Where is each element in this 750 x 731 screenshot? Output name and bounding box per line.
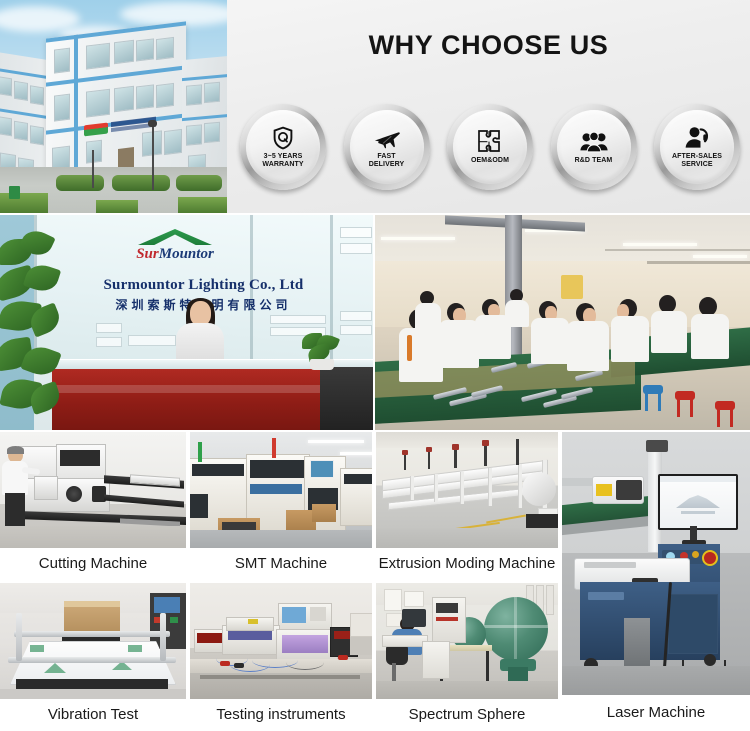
photo-row-reception-production: SurMountor Surmountor Lighting Co., Ltd … [0, 215, 750, 430]
cell-extrusion-machine: Extrusion Moding Machine [376, 432, 558, 580]
feature-badge-list: 3~5 YEARS WARRANTY FAST DELIVER [240, 104, 740, 196]
operator [2, 448, 28, 536]
cell-vibration-test: Vibration Test [0, 583, 186, 731]
badge-oem-odm[interactable]: OEM&ODM [447, 104, 533, 190]
reception-photo: SurMountor Surmountor Lighting Co., Ltd … [0, 215, 373, 430]
badge-after-sales-service[interactable]: AFTER-SALES SERVICE [654, 104, 740, 190]
potted-plant-left [0, 229, 74, 429]
factory-main-building [46, 21, 186, 188]
worker [531, 301, 571, 365]
caption-vibration-test: Vibration Test [0, 699, 186, 731]
side-cabinet [320, 367, 373, 430]
badge-label-line1: AFTER-SALES [672, 153, 722, 160]
cell-testing-instruments: Testing instruments [190, 583, 372, 731]
caption-spectrum-sphere: Spectrum Sphere [376, 699, 558, 731]
worker [611, 299, 651, 361]
cell-laser-machine: Laser Machine [562, 432, 750, 731]
badge-warranty[interactable]: 3~5 YEARS WARRANTY [240, 104, 326, 190]
receptionist [176, 301, 224, 363]
airplane-icon [373, 125, 400, 151]
laser-monitor [658, 474, 738, 530]
stool [715, 401, 735, 427]
badge-fast-delivery[interactable]: FAST DELIVERY [344, 104, 430, 190]
badge-label-line1: 3~5 YEARS [264, 153, 303, 160]
factory-exterior-photo [0, 0, 227, 213]
worker [567, 303, 611, 373]
caption-testing-instruments: Testing instruments [190, 699, 372, 731]
headset-support-icon [684, 125, 710, 151]
reception-counter [52, 369, 320, 430]
cell-smt-machine: SMT Machine [190, 432, 372, 580]
badge-label-line1: OEM&ODM [471, 157, 509, 164]
caption-extrusion-machine: Extrusion Moding Machine [376, 548, 558, 580]
worker [505, 289, 531, 327]
badge-label-line1: R&D TEAM [575, 157, 613, 164]
factory-right-wing [182, 56, 227, 180]
company-name-en: Surmountor Lighting Co., Ltd [34, 277, 373, 294]
shield-q-icon [271, 125, 295, 151]
badge-label-line2: SERVICE [681, 161, 712, 168]
equipment-grid: Cutting Machine [0, 432, 750, 731]
brand-part-mountor: Mountor [159, 246, 214, 262]
brand-part-sur: Sur [136, 246, 159, 262]
trash-bin [9, 186, 20, 199]
header-band: WHY CHOOSE US 3~5 YEARS WARRANTY [0, 0, 750, 213]
potted-plant-counter [300, 333, 344, 373]
caption-cutting-machine: Cutting Machine [0, 548, 186, 580]
people-group-icon [580, 129, 608, 155]
caption-laser-machine: Laser Machine [562, 695, 750, 731]
stool [643, 385, 663, 411]
cell-cutting-machine: Cutting Machine [0, 432, 186, 580]
worker [691, 297, 731, 359]
reception-brand-block: SurMountor [120, 229, 230, 262]
badge-label-line1: FAST [377, 153, 395, 160]
cell-spectrum-sphere: Spectrum Sphere [376, 583, 558, 731]
worker [415, 291, 443, 331]
caption-smt-machine: SMT Machine [190, 548, 372, 580]
badge-label-line2: WARRANTY [262, 161, 303, 168]
brand-wordmark: SurMountor [120, 246, 230, 262]
worker [651, 295, 689, 353]
surmountor-logo-mark [84, 122, 108, 136]
badge-label-line2: DELIVERY [369, 161, 405, 168]
badge-rd-team[interactable]: R&D TEAM [551, 104, 637, 190]
page-title: WHY CHOOSE US [227, 30, 750, 61]
stool [675, 391, 695, 417]
puzzle-icon [477, 129, 503, 155]
mountain-logo-icon [138, 229, 212, 245]
why-choose-us-page: WHY CHOOSE US 3~5 YEARS WARRANTY [0, 0, 750, 731]
production-line-photo [375, 215, 750, 430]
